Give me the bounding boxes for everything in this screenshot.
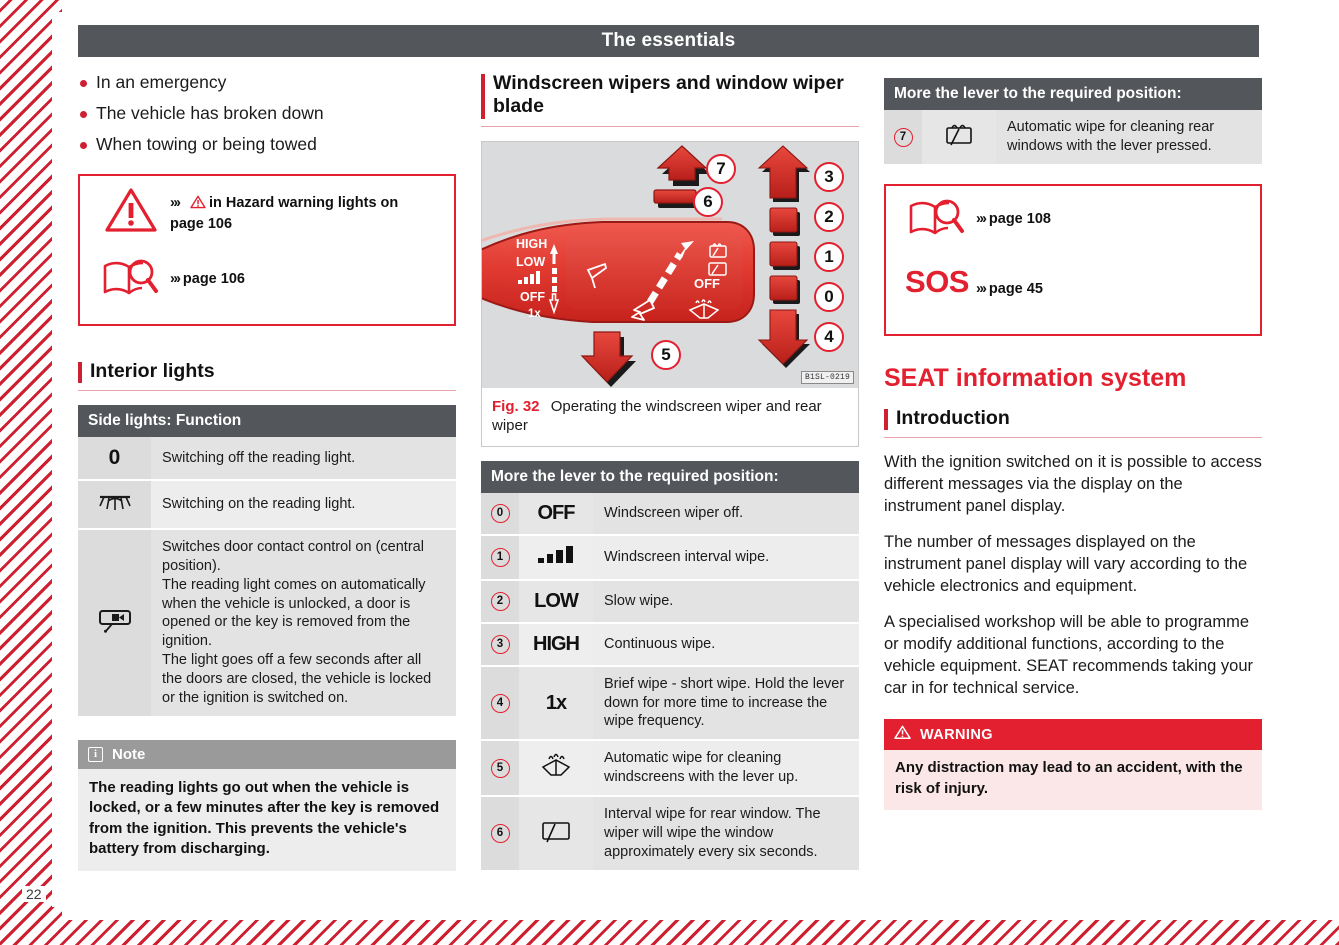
warning-label: WARNING — [920, 727, 993, 743]
wiper-positions-table: More the lever to the required position:… — [481, 461, 859, 872]
position-number-cell: 0 — [481, 493, 519, 535]
figure-callout-7: 7 — [706, 154, 736, 184]
reading-light-icon — [96, 501, 134, 518]
side-lights-table: Side lights: Function 0 Switching off th… — [78, 405, 456, 718]
rear-washer-icon — [941, 136, 977, 153]
section-title: Interior lights — [90, 360, 456, 383]
symbol-cell: 0 — [78, 437, 151, 480]
symbol-1x: 1x — [546, 692, 566, 714]
note-header: i Note — [78, 740, 456, 769]
position-number-cell: 5 — [481, 740, 519, 796]
figure-callout-2: 2 — [814, 202, 844, 232]
position-number: 1 — [491, 548, 510, 567]
page-number: 22 — [22, 886, 46, 902]
figure-code: B1SL-0219 — [801, 371, 854, 384]
warning-triangle-icon — [894, 725, 911, 744]
section-title: Windscreen wipers and window wiper blade — [493, 72, 859, 119]
warning-triangle-icon — [92, 186, 170, 234]
table-header-label: More the lever to the required position: — [481, 461, 859, 493]
list-item: The vehicle has broken down — [78, 103, 456, 125]
table-header-label: More the lever to the required position: — [884, 78, 1262, 110]
section-heading-wipers: Windscreen wipers and window wiper blade — [481, 72, 859, 127]
note-label: Note — [112, 746, 145, 763]
position-number: 3 — [491, 635, 510, 654]
symbol-cell: OFF — [519, 493, 593, 535]
description-cell: Continuous wipe. — [593, 623, 859, 666]
warning-box: WARNING Any distraction may lead to an a… — [884, 719, 1262, 809]
table-row: 2 LOW Slow wipe. — [481, 580, 859, 623]
chevron-icon: »› — [976, 211, 985, 227]
reference-row: »›page 106 — [92, 256, 442, 312]
position-number: 7 — [894, 128, 913, 147]
figure-caption-text: Operating the windscreen wiper and rear … — [492, 398, 822, 435]
reference-row-text: »›page 108 — [976, 196, 1051, 229]
sos-label: SOS — [905, 266, 969, 297]
info-icon: i — [88, 747, 103, 762]
description-cell: Switching off the reading light. — [151, 437, 456, 480]
middle-column: Windscreen wipers and window wiper blade — [481, 72, 859, 872]
table-row: 0 OFF Windscreen wiper off. — [481, 493, 859, 535]
left-reference-box: »› in Hazard warning lights on page 106 — [78, 174, 456, 326]
windscreen-washer-icon — [539, 767, 573, 784]
table-row: Switches door contact control on (centra… — [78, 529, 456, 717]
chevron-icon: »› — [170, 271, 179, 287]
book-magnifier-icon — [898, 196, 976, 240]
rear-wiper-icon — [538, 831, 574, 848]
symbol-cell — [519, 740, 593, 796]
table-row: 0 Switching off the reading light. — [78, 437, 456, 480]
position-number: 4 — [491, 694, 510, 713]
table-row: 1 Windscreen interval wipe. — [481, 535, 859, 580]
position-number-cell: 4 — [481, 666, 519, 741]
figure-callout-6: 6 — [693, 187, 723, 217]
door-contact-icon — [97, 620, 133, 637]
svg-text:OFF: OFF — [520, 290, 545, 304]
table-header-row: More the lever to the required position: — [481, 461, 859, 493]
position-number-cell: 7 — [884, 110, 922, 165]
section-heading-introduction: Introduction — [884, 407, 1262, 438]
position-number: 6 — [491, 824, 510, 843]
table-row: 5 Automatic wipe for cleaning windscreen… — [481, 740, 859, 796]
page-header: The essentials — [78, 25, 1259, 57]
symbol-cell — [519, 796, 593, 871]
description-cell: Interval wipe for rear window. The wiper… — [593, 796, 859, 871]
table-header-row: Side lights: Function — [78, 405, 456, 437]
svg-text:LOW: LOW — [516, 255, 545, 269]
reference-row: »› in Hazard warning lights on page 106 — [92, 186, 442, 242]
position-number: 5 — [491, 759, 510, 778]
emergency-bullet-list: In an emergency The vehicle has broken d… — [78, 72, 456, 156]
reference-page-link[interactable]: page 106 — [170, 216, 232, 232]
chevron-icon: »› — [170, 195, 179, 211]
symbol-cell — [78, 480, 151, 529]
symbol-cell: HIGH — [519, 623, 593, 666]
description-cell: Automatic wipe for cleaning rear windows… — [996, 110, 1262, 165]
reference-row-text: »›page 106 — [170, 256, 245, 289]
figure-callout-3: 3 — [814, 162, 844, 192]
left-column: In an emergency The vehicle has broken d… — [78, 72, 456, 871]
reference-page-link[interactable]: page 106 — [183, 271, 245, 287]
svg-text:HIGH: HIGH — [516, 237, 547, 251]
svg-text:OFF: OFF — [694, 276, 720, 291]
position-number-cell: 2 — [481, 580, 519, 623]
table-row: 4 1x Brief wipe - short wipe. Hold the l… — [481, 666, 859, 741]
description-cell: Slow wipe. — [593, 580, 859, 623]
figure-image-wiper-lever: HIGH LOW OFF 1x — [482, 142, 858, 388]
chevron-icon: »› — [976, 281, 985, 297]
body-paragraph: A specialised workshop will be able to p… — [884, 612, 1262, 700]
warning-triangle-inline-icon — [190, 195, 206, 215]
manual-page: The essentials 22 In an emergency The ve… — [0, 0, 1339, 945]
page-header-title: The essentials — [602, 30, 736, 52]
description-cell: Windscreen interval wipe. — [593, 535, 859, 580]
note-box: i Note The reading lights go out when th… — [78, 740, 456, 871]
sos-icon: SOS — [898, 266, 976, 297]
table-row: 3 HIGH Continuous wipe. — [481, 623, 859, 666]
figure-32: HIGH LOW OFF 1x — [481, 141, 859, 447]
right-reference-box: »›page 108 SOS »›page 45 — [884, 184, 1262, 336]
warning-header: WARNING — [884, 719, 1262, 750]
reference-row-text: »› in Hazard warning lights on page 106 — [170, 186, 398, 234]
symbol-cell — [519, 535, 593, 580]
description-cell: Automatic wipe for cleaning windscreens … — [593, 740, 859, 796]
figure-caption: Fig. 32 Operating the windscreen wiper a… — [482, 388, 858, 446]
list-item: In an emergency — [78, 72, 456, 94]
position-number-cell: 1 — [481, 535, 519, 580]
position-number: 0 — [491, 504, 510, 523]
reference-row-text: »›page 45 — [976, 266, 1043, 299]
figure-callout-1: 1 — [814, 242, 844, 272]
symbol-low: LOW — [534, 590, 578, 612]
rear-wiper-positions-table: More the lever to the required position:… — [884, 78, 1262, 166]
note-body: The reading lights go out when the vehic… — [78, 769, 456, 871]
figure-label: Fig. 32 — [492, 398, 540, 415]
symbol-cell — [922, 110, 996, 165]
table-row: 6 Interval wipe for rear window. The wip… — [481, 796, 859, 871]
symbol-cell: LOW — [519, 580, 593, 623]
description-cell: Windscreen wiper off. — [593, 493, 859, 535]
symbol-off: OFF — [538, 502, 575, 524]
table-row: 7 Automatic wipe for cleaning rear windo… — [884, 110, 1262, 165]
description-cell: Switches door contact control on (centra… — [151, 529, 456, 717]
svg-text:1x: 1x — [528, 308, 541, 320]
right-column: More the lever to the required position:… — [884, 72, 1262, 810]
figure-callout-5: 5 — [651, 340, 681, 370]
interval-bars-icon — [534, 552, 578, 569]
section-heading-interior-lights: Interior lights — [78, 360, 456, 391]
reference-row: »›page 108 — [898, 196, 1248, 252]
body-paragraph: With the ignition switched on it is poss… — [884, 452, 1262, 518]
position-number-cell: 6 — [481, 796, 519, 871]
section-title: Introduction — [896, 407, 1262, 430]
table-header-row: More the lever to the required position: — [884, 78, 1262, 110]
symbol-cell: 1x — [519, 666, 593, 741]
figure-callout-4: 4 — [814, 322, 844, 352]
symbol-cell — [78, 529, 151, 717]
list-item: When towing or being towed — [78, 134, 456, 156]
description-cell: Brief wipe - short wipe. Hold the lever … — [593, 666, 859, 741]
reference-row: SOS »›page 45 — [898, 266, 1248, 322]
chapter-title-seat-information-system: SEAT information system — [884, 364, 1262, 393]
position-number: 2 — [491, 592, 510, 611]
warning-body: Any distraction may lead to an accident,… — [884, 750, 1262, 809]
table-row: Switching on the reading light. — [78, 480, 456, 529]
symbol-zero: 0 — [109, 446, 121, 469]
description-cell: Switching on the reading light. — [151, 480, 456, 529]
body-paragraph: The number of messages displayed on the … — [884, 532, 1262, 598]
table-header-label: Side lights: Function — [78, 405, 456, 437]
reference-page-link[interactable]: page 45 — [989, 281, 1043, 297]
position-number-cell: 3 — [481, 623, 519, 666]
symbol-high: HIGH — [533, 633, 579, 655]
reference-text-before: in Hazard warning lights on — [209, 195, 398, 211]
reference-page-link[interactable]: page 108 — [989, 211, 1051, 227]
book-magnifier-icon — [92, 256, 170, 300]
figure-callout-0: 0 — [814, 282, 844, 312]
